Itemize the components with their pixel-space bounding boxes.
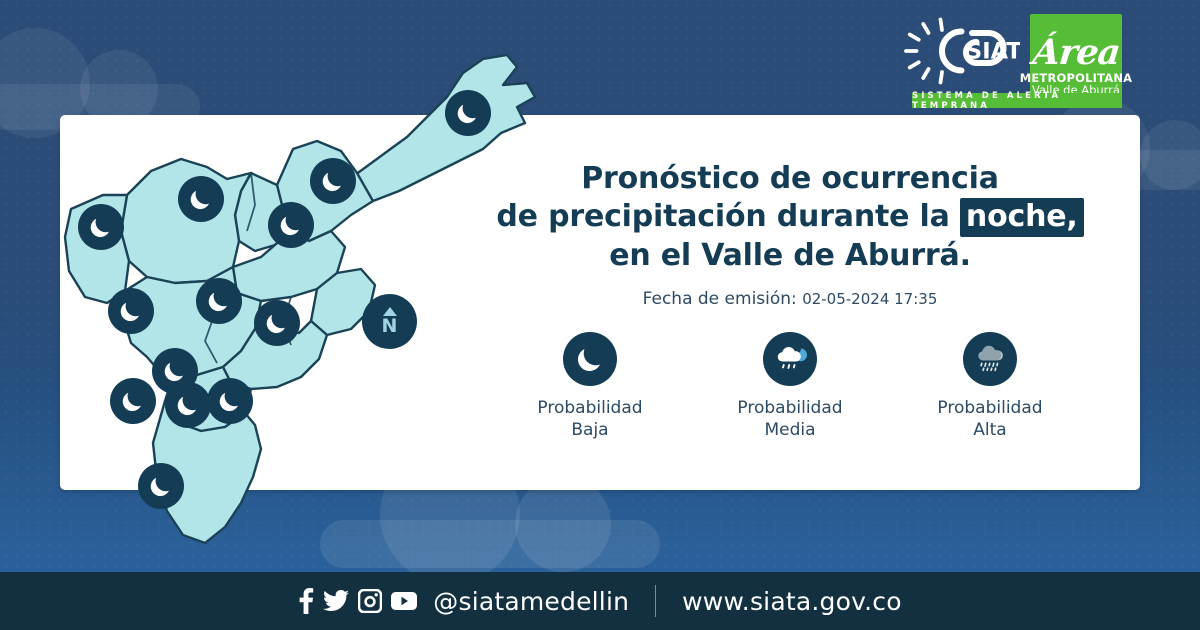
map-marker-girardota[interactable] — [310, 158, 356, 204]
legend-alta-line1: Probabilidad — [937, 398, 1042, 420]
map-marker-la-estrella[interactable] — [165, 382, 211, 428]
youtube-icon[interactable] — [391, 591, 417, 611]
legend-baja-line1: Probabilidad — [537, 398, 642, 420]
headline-line-2-text: de precipitación durante la — [496, 199, 949, 234]
svg-text:SIATA: SIATA — [966, 39, 1020, 65]
cloud-rain-moon-icon — [763, 332, 817, 386]
decorative-cloud — [320, 520, 660, 568]
legend-media-line2: Media — [737, 420, 842, 442]
headline-block: Pronóstico de ocurrencia de precipitació… — [480, 160, 1100, 309]
headline-highlight-noche: noche, — [960, 198, 1084, 237]
legend-item-media: Probabilidad Media — [705, 332, 875, 442]
instagram-icon[interactable] — [358, 589, 382, 613]
legend-label-baja: Probabilidad Baja — [537, 398, 642, 442]
website-url[interactable]: www.siata.gov.co — [682, 587, 902, 616]
headline-line-2: de precipitación durante la noche, — [480, 198, 1100, 236]
area-metropolitana-logo: Área METROPOLITANA Valle de Aburrá — [1030, 14, 1122, 102]
footer-divider — [655, 585, 656, 617]
area-logo-script: Área — [1031, 36, 1121, 69]
page-title: Pronóstico de ocurrencia de precipitació… — [480, 160, 1100, 275]
emission-date: Fecha de emisión: 02-05-2024 17:35 — [480, 289, 1100, 309]
map-marker-caldas[interactable] — [138, 463, 184, 509]
map-marker-barbosa[interactable] — [445, 90, 491, 136]
alerta-temprana-banner: SISTEMA DE ALERTA TEMPRANA — [912, 93, 1122, 108]
siata-logo-icon: SIATA — [900, 14, 1020, 88]
infographic-canvas: SIATA Área METROPOLITANA Valle de Aburrá… — [0, 0, 1200, 630]
legend-label-media: Probabilidad Media — [737, 398, 842, 442]
facebook-icon[interactable] — [298, 588, 314, 614]
map-marker-medellin[interactable] — [108, 288, 154, 334]
headline-line-3: en el Valle de Aburrá. — [480, 237, 1100, 275]
map-marker-copacabana[interactable] — [268, 202, 314, 248]
footer-bar: @siatamedellin www.siata.gov.co — [0, 572, 1200, 630]
legend-media-line1: Probabilidad — [737, 398, 842, 420]
headline-line-1: Pronóstico de ocurrencia — [480, 160, 1100, 198]
emission-date-value: 02-05-2024 17:35 — [802, 290, 937, 308]
map-marker-bello[interactable] — [196, 278, 242, 324]
legend-label-alta: Probabilidad Alta — [937, 398, 1042, 442]
legend-item-baja: Probabilidad Baja — [505, 332, 675, 442]
map-marker-south[interactable] — [207, 378, 253, 424]
legend-alta-line2: Alta — [937, 420, 1042, 442]
logo-group: SIATA Área METROPOLITANA Valle de Aburrá — [900, 14, 1122, 102]
map-marker-west[interactable] — [78, 204, 124, 250]
map-marker-san-pedro[interactable] — [178, 176, 224, 222]
map-marker-envigado[interactable] — [254, 300, 300, 346]
emission-date-label: Fecha de emisión: — [643, 289, 797, 309]
legend-baja-line2: Baja — [537, 420, 642, 442]
map-marker-sabaneta[interactable] — [110, 378, 156, 424]
moon-icon — [563, 332, 617, 386]
area-logo-line1: METROPOLITANA — [1020, 72, 1133, 84]
alerta-temprana-text: SISTEMA DE ALERTA TEMPRANA — [912, 91, 1122, 111]
probability-legend: Probabilidad Baja Probabilidad Media — [490, 332, 1090, 442]
legend-item-alta: Probabilidad Alta — [905, 332, 1075, 442]
social-icon-group — [298, 588, 417, 614]
twitter-icon[interactable] — [323, 590, 349, 612]
cloud-heavy-rain-icon — [963, 332, 1017, 386]
social-handle[interactable]: @siatamedellin — [433, 587, 629, 616]
